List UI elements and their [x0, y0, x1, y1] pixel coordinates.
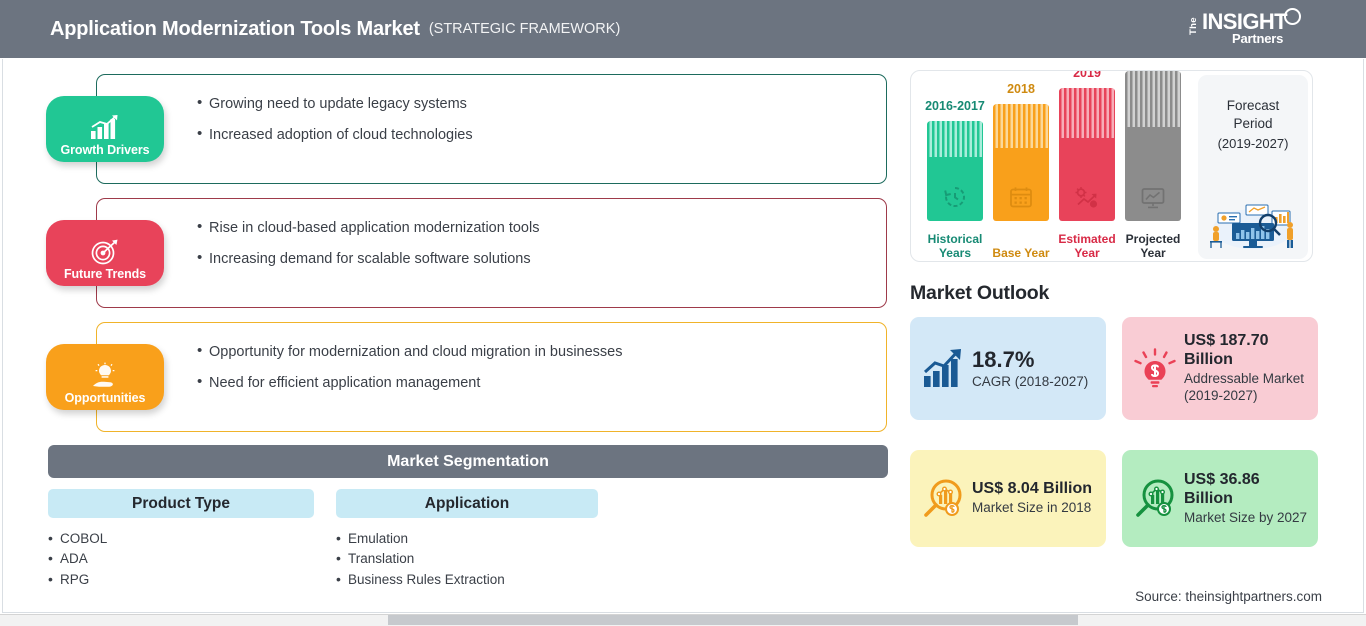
bar-category-label: Historical Years [919, 233, 991, 261]
forecast-line-1: Forecast [1198, 97, 1308, 115]
clock-history-icon [942, 185, 968, 209]
outlook-card-text: US$ 187.70 Billion Addressable Market (2… [1184, 332, 1308, 404]
panel-points-growth-drivers: Growing need to update legacy systems In… [197, 95, 868, 157]
timeline-bar-estimated: 2019 Estimated Year [1059, 88, 1115, 221]
panel-growth-drivers: Growing need to update legacy systems In… [96, 74, 887, 184]
forecast-period-box: Forecast Period (2019-2027) [1198, 75, 1308, 259]
list-item: RPG [48, 570, 314, 590]
outlook-card-value: US$ 36.86 Billion [1184, 471, 1308, 509]
forecast-line-2: Period [1198, 115, 1308, 133]
outlook-card-addressable-market[interactable]: US$ 187.70 Billion Addressable Market (2… [1122, 317, 1318, 420]
timeline-bar-historical: 2016-2017 Historical Years [927, 121, 983, 221]
magnifier-bars-dollar-icon [920, 476, 966, 522]
bullet-point: Need for efficient application managemen… [197, 374, 868, 392]
source-text: Source: theinsightpartners.com [1135, 589, 1322, 604]
outlook-card-sub: Market Size by 2027 [1184, 510, 1308, 527]
segmentation-column-product-type: Product Type COBOL ADA RPG [48, 489, 314, 590]
bar-year-label: 2018 [1007, 82, 1035, 96]
bar-category-label: Projected Year [1117, 233, 1189, 261]
segmentation-column-application: Application Emulation Translation Busine… [336, 489, 598, 590]
list-item: Translation [336, 549, 598, 569]
bar-chart-growth-icon [88, 114, 122, 142]
outlook-card-value: US$ 187.70 Billion [1184, 332, 1308, 370]
outlook-card-sub: Addressable Market (2019-2027) [1184, 371, 1308, 404]
segmentation-column-title: Application [336, 489, 598, 518]
insight-partners-logo[interactable]: The INSIGHT Partners [1188, 9, 1308, 51]
forecast-period-text: Forecast Period (2019-2027) [1198, 97, 1308, 153]
horizontal-scrollbar-thumb[interactable] [388, 615, 1078, 625]
outlook-card-market-size-2027[interactable]: US$ 36.86 Billion Market Size by 2027 [1122, 450, 1318, 547]
outlook-card-text: 18.7% CAGR (2018-2027) [972, 347, 1096, 391]
analytics-team-illustration [1202, 195, 1304, 251]
infographic-page: Application Modernization Tools Market (… [0, 0, 1366, 626]
bullet-point: Opportunity for modernization and cloud … [197, 343, 868, 361]
bullet-point: Growing need to update legacy systems [197, 95, 868, 113]
bar-year-label: 2016-2017 [925, 99, 985, 113]
page-subtitle: (STRATEGIC FRAMEWORK) [429, 21, 620, 37]
page-header: Application Modernization Tools Market (… [0, 0, 1366, 58]
segmentation-column-title: Product Type [48, 489, 314, 518]
outlook-card-text: US$ 8.04 Billion Market Size in 2018 [972, 480, 1096, 517]
badge-growth-drivers[interactable]: Growth Drivers [46, 96, 164, 162]
bar-chart-arrow-icon [920, 346, 966, 392]
right-column: 2016-2017 Historical Years 2018 [910, 70, 1330, 317]
logo-the-text: The [1188, 17, 1199, 35]
dollar-bulb-icon [1132, 346, 1178, 392]
segmentation-items: Emulation Translation Business Rules Ext… [336, 529, 598, 590]
presentation-screen-icon [1140, 185, 1166, 209]
magnifier-bars-dollar-icon [1132, 476, 1178, 522]
outlook-card-value: US$ 8.04 Billion [972, 480, 1096, 499]
page-title: Application Modernization Tools Market [50, 18, 420, 41]
panel-points-future-trends: Rise in cloud-based application moderniz… [197, 219, 868, 281]
timeline-bar-base: 2018 Base Year [993, 104, 1049, 221]
segmentation-items: COBOL ADA RPG [48, 529, 314, 590]
list-item: COBOL [48, 529, 314, 549]
target-dart-icon [88, 238, 122, 266]
market-outlook-title: Market Outlook [910, 282, 1330, 305]
forecast-years: (2019-2027) [1198, 135, 1308, 153]
badge-opportunities[interactable]: Opportunities [46, 344, 164, 410]
timeline-bar-projected: 2027 Projected Year [1125, 71, 1181, 221]
badge-label: Future Trends [64, 267, 146, 281]
badge-future-trends[interactable]: Future Trends [46, 220, 164, 286]
list-item: Business Rules Extraction [336, 570, 598, 590]
panel-points-opportunities: Opportunity for modernization and cloud … [197, 343, 868, 405]
bar-category-label: Base Year [985, 247, 1057, 261]
bullet-point: Increasing demand for scalable software … [197, 250, 868, 268]
timeline-bars: 2016-2017 Historical Years 2018 [923, 71, 1188, 262]
outlook-card-text: US$ 36.86 Billion Market Size by 2027 [1184, 471, 1308, 526]
panel-future-trends: Rise in cloud-based application moderniz… [96, 198, 887, 308]
market-segmentation-header: Market Segmentation [48, 445, 888, 478]
outlook-card-cagr[interactable]: 18.7% CAGR (2018-2027) [910, 317, 1106, 420]
bar-year-label: 2019 [1073, 70, 1101, 80]
badge-label: Opportunities [65, 391, 146, 405]
outlook-card-sub: Market Size in 2018 [972, 500, 1096, 517]
list-item: Emulation [336, 529, 598, 549]
calendar-icon [1008, 185, 1034, 209]
bar-category-label: Estimated Year [1051, 233, 1123, 261]
outlook-card-market-size-2018[interactable]: US$ 8.04 Billion Market Size in 2018 [910, 450, 1106, 547]
timeline-chart: 2016-2017 Historical Years 2018 [910, 70, 1313, 262]
bullet-point: Rise in cloud-based application moderniz… [197, 219, 868, 237]
lightbulb-hand-icon [88, 362, 122, 390]
logo-ring-icon [1284, 8, 1301, 25]
outlook-card-value: 18.7% [972, 347, 1096, 373]
badge-label: Growth Drivers [61, 143, 150, 157]
logo-partners-text: Partners [1232, 31, 1283, 46]
trend-settings-icon [1074, 185, 1100, 209]
list-item: ADA [48, 549, 314, 569]
panel-opportunities: Opportunity for modernization and cloud … [96, 322, 887, 432]
bullet-point: Increased adoption of cloud technologies [197, 126, 868, 144]
outlook-card-sub: CAGR (2018-2027) [972, 374, 1096, 391]
